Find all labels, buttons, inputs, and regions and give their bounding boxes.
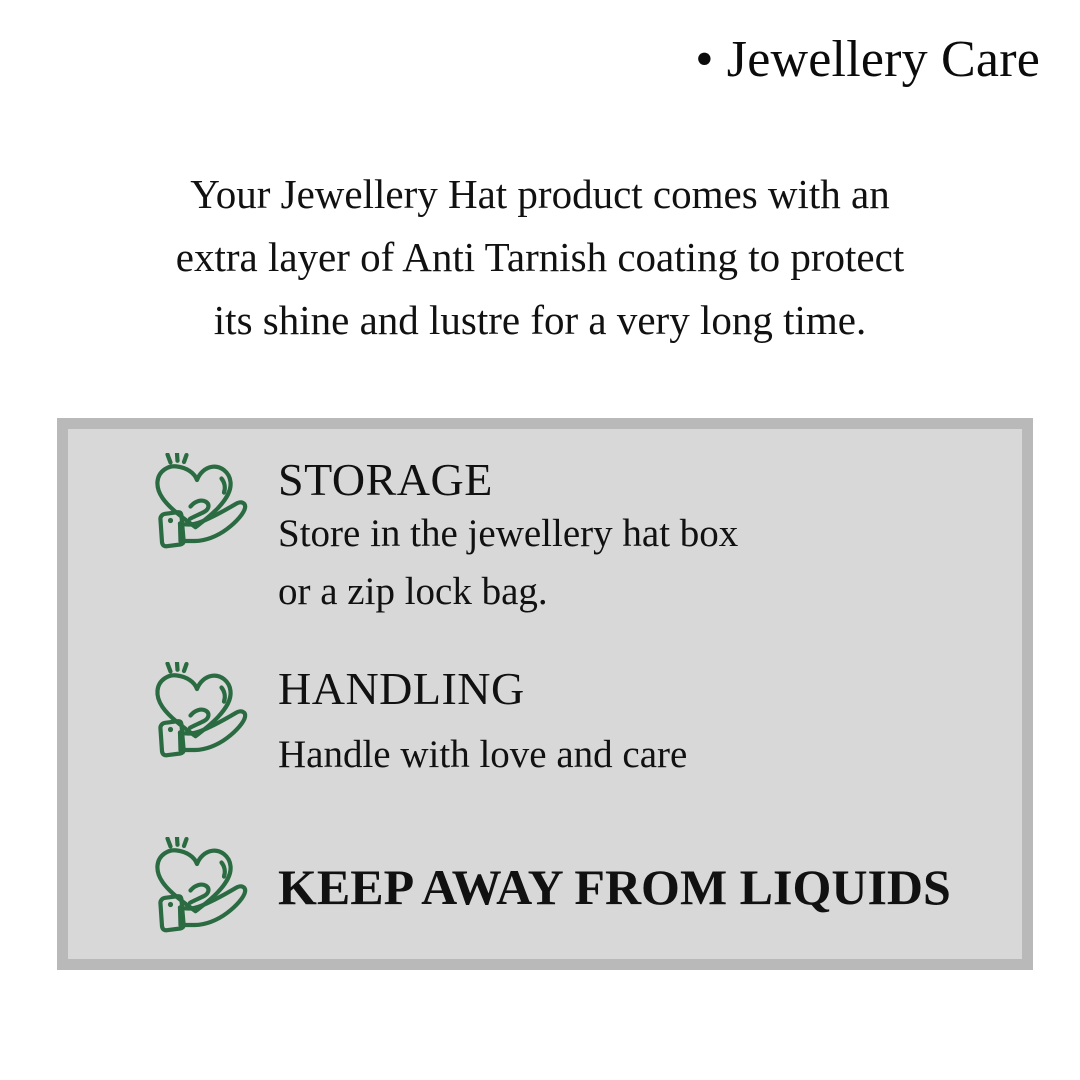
care-section-storage: STORAGE Store in the jewellery hat box o… bbox=[150, 453, 738, 621]
intro-line-2: extra layer of Anti Tarnish coating to p… bbox=[62, 226, 1018, 289]
care-section-liquids: KEEP AWAY FROM LIQUIDS bbox=[150, 837, 951, 937]
heart-in-hand-icon bbox=[150, 453, 254, 553]
section-line: Handle with love and care bbox=[278, 726, 687, 784]
intro-line-1: Your Jewellery Hat product comes with an bbox=[62, 163, 1018, 226]
section-line: or a zip lock bag. bbox=[278, 563, 738, 621]
heart-in-hand-icon bbox=[150, 837, 254, 937]
section-heading: HANDLING bbox=[278, 664, 687, 714]
care-section-text: STORAGE Store in the jewellery hat box o… bbox=[278, 453, 738, 621]
intro-paragraph: Your Jewellery Hat product comes with an… bbox=[62, 163, 1018, 352]
care-section-text: KEEP AWAY FROM LIQUIDS bbox=[278, 860, 951, 914]
jewellery-care-card: • Jewellery Care Your Jewellery Hat prod… bbox=[0, 0, 1080, 1080]
care-section-handling: HANDLING Handle with love and care bbox=[150, 662, 687, 784]
section-line: Store in the jewellery hat box bbox=[278, 505, 738, 563]
page-title: • Jewellery Care bbox=[695, 34, 1040, 86]
intro-line-3: its shine and lustre for a very long tim… bbox=[62, 289, 1018, 352]
care-instructions-panel: STORAGE Store in the jewellery hat box o… bbox=[57, 418, 1033, 970]
heart-in-hand-icon bbox=[150, 662, 254, 762]
section-heading: STORAGE bbox=[278, 455, 738, 505]
care-section-text: HANDLING Handle with love and care bbox=[278, 662, 687, 784]
section-heading: KEEP AWAY FROM LIQUIDS bbox=[278, 860, 951, 914]
